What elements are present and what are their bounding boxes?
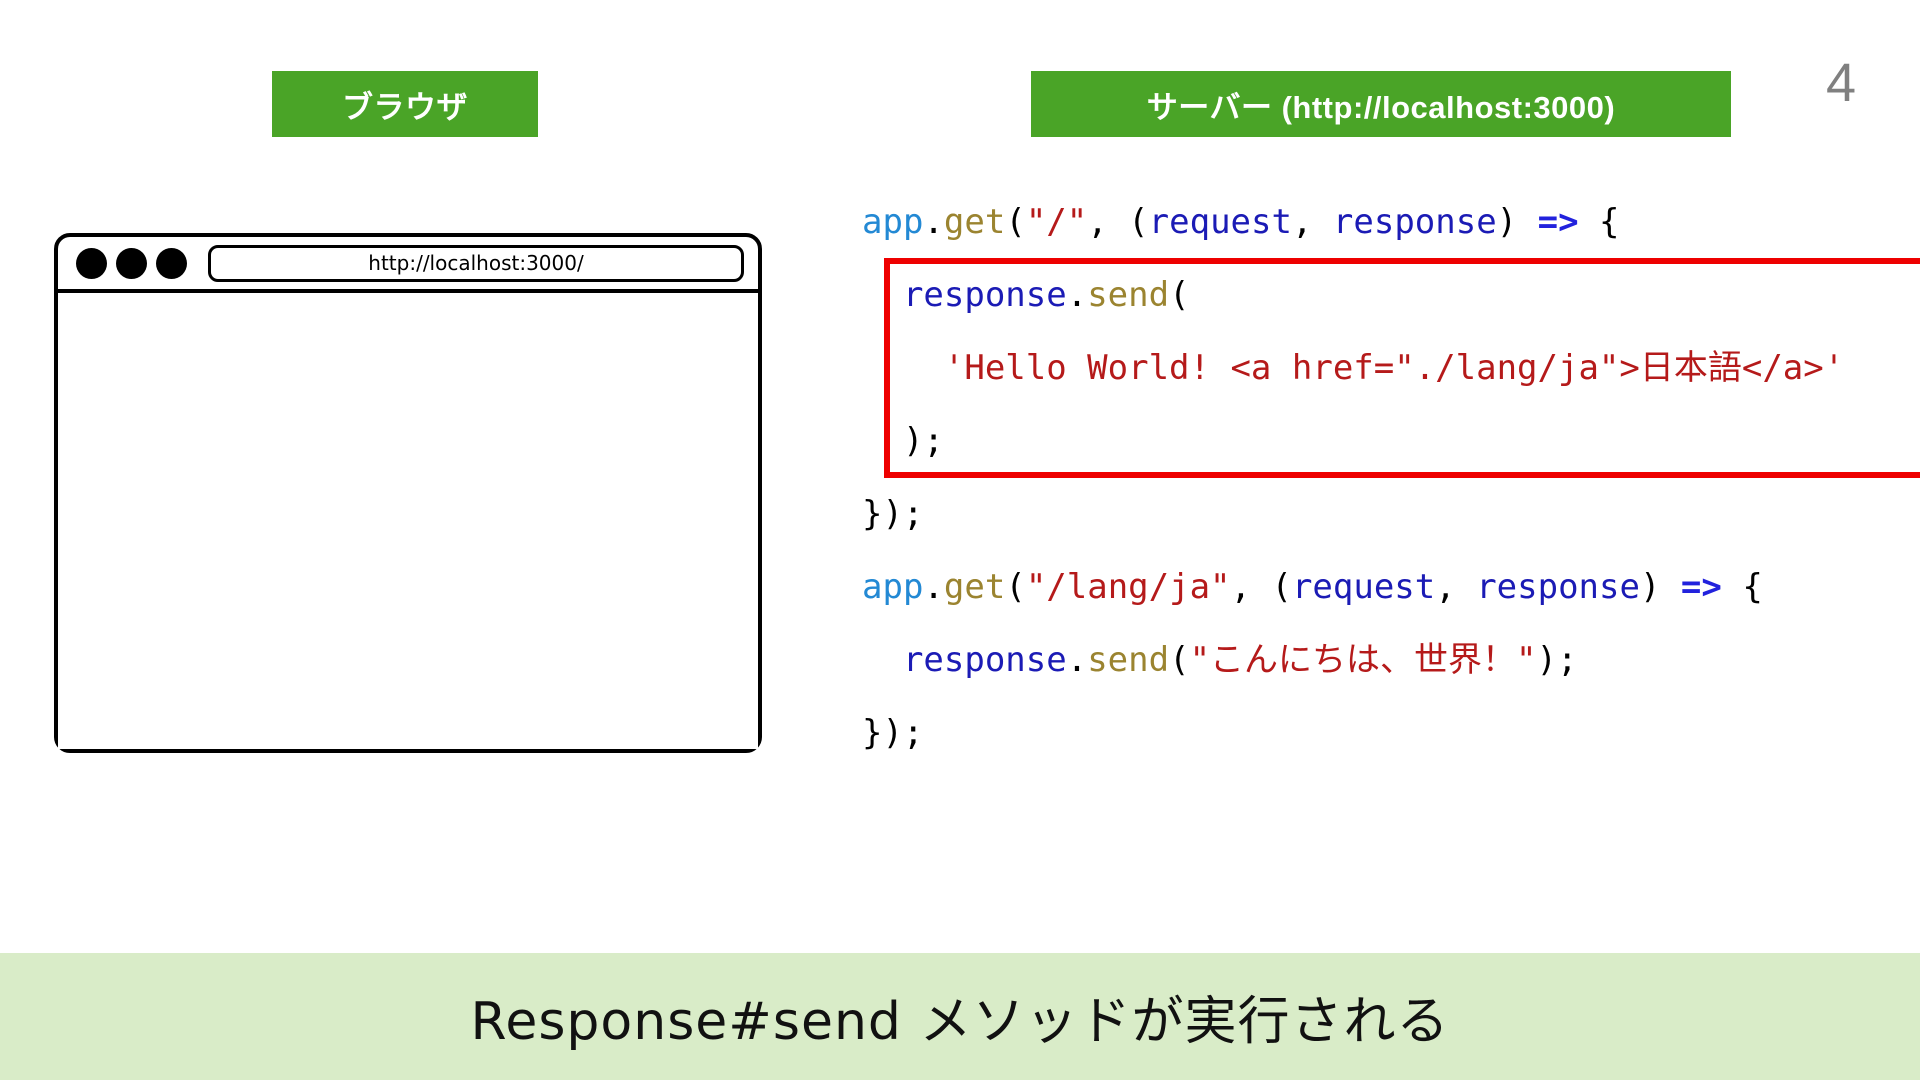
code-token: ,: [1435, 567, 1476, 607]
page-number: 4: [1826, 56, 1856, 110]
code-token: response: [1333, 202, 1497, 242]
address-bar[interactable]: http://localhost:3000/: [208, 245, 744, 282]
code-token: response: [903, 275, 1067, 315]
caption-bar: Response#send メソッドが実行される: [0, 953, 1920, 1080]
code-token: .: [923, 202, 943, 242]
code-line: app.get("/lang/ja", (request, response) …: [862, 551, 1882, 624]
code-line: response.send("こんにちは、世界！");: [862, 624, 1882, 697]
code-token: get: [944, 202, 1005, 242]
code-token: =>: [1681, 567, 1722, 607]
code-token: ,: [1292, 202, 1333, 242]
code-token: "/lang/ja": [1026, 567, 1231, 607]
server-column-banner: サーバー (http://localhost:3000): [1031, 71, 1731, 137]
code-token: {: [1722, 567, 1763, 607]
code-token: app: [862, 202, 923, 242]
window-maximize-dot-icon[interactable]: [156, 248, 187, 279]
code-line: 'Hello World! <a href="./lang/ja">日本語</a…: [862, 332, 1882, 405]
browser-mockup: http://localhost:3000/: [54, 233, 762, 753]
code-token: "こんにちは、世界！": [1190, 640, 1537, 680]
code-line: );: [862, 405, 1882, 478]
code-token: 'Hello World! <a href="./lang/ja">日本語</a…: [944, 348, 1844, 388]
code-token: (: [1169, 640, 1189, 680]
code-token: [862, 640, 903, 680]
code-line: app.get("/", (request, response) => {: [862, 186, 1882, 259]
code-token: =>: [1538, 202, 1579, 242]
code-token: .: [1067, 640, 1087, 680]
code-token: .: [1067, 275, 1087, 315]
code-token: ): [1497, 202, 1538, 242]
browser-banner-label: ブラウザ: [342, 82, 468, 127]
address-bar-url: http://localhost:3000/: [368, 251, 583, 275]
code-token: send: [1087, 275, 1169, 315]
browser-viewport: [58, 293, 758, 749]
code-token: ): [1640, 567, 1681, 607]
code-token: response: [1476, 567, 1640, 607]
code-token: (: [1005, 202, 1025, 242]
server-banner-label: サーバー (http://localhost:3000): [1147, 82, 1615, 127]
browser-column-banner: ブラウザ: [272, 71, 538, 137]
server-code-block: app.get("/", (request, response) => { re…: [862, 186, 1882, 770]
code-token: .: [923, 567, 943, 607]
code-token: request: [1292, 567, 1435, 607]
code-token: {: [1579, 202, 1620, 242]
code-token: app: [862, 567, 923, 607]
code-token: send: [1087, 640, 1169, 680]
window-close-dot-icon[interactable]: [76, 248, 107, 279]
code-token: );: [862, 421, 944, 461]
code-line: });: [862, 697, 1882, 770]
code-token: , (: [1231, 567, 1292, 607]
code-token: });: [862, 713, 923, 753]
code-token: (: [1169, 275, 1189, 315]
window-minimize-dot-icon[interactable]: [116, 248, 147, 279]
code-token: "/": [1026, 202, 1087, 242]
code-token: request: [1149, 202, 1292, 242]
code-token: );: [1537, 640, 1578, 680]
code-token: (: [1005, 567, 1025, 607]
code-line: response.send(: [862, 259, 1882, 332]
caption-text: Response#send メソッドが実行される: [471, 979, 1450, 1054]
code-token: response: [903, 640, 1067, 680]
browser-toolbar: http://localhost:3000/: [58, 237, 758, 293]
code-token: , (: [1087, 202, 1148, 242]
code-token: get: [944, 567, 1005, 607]
code-token: });: [862, 494, 923, 534]
code-token: [862, 275, 903, 315]
code-line: });: [862, 478, 1882, 551]
code-token: [862, 348, 944, 388]
